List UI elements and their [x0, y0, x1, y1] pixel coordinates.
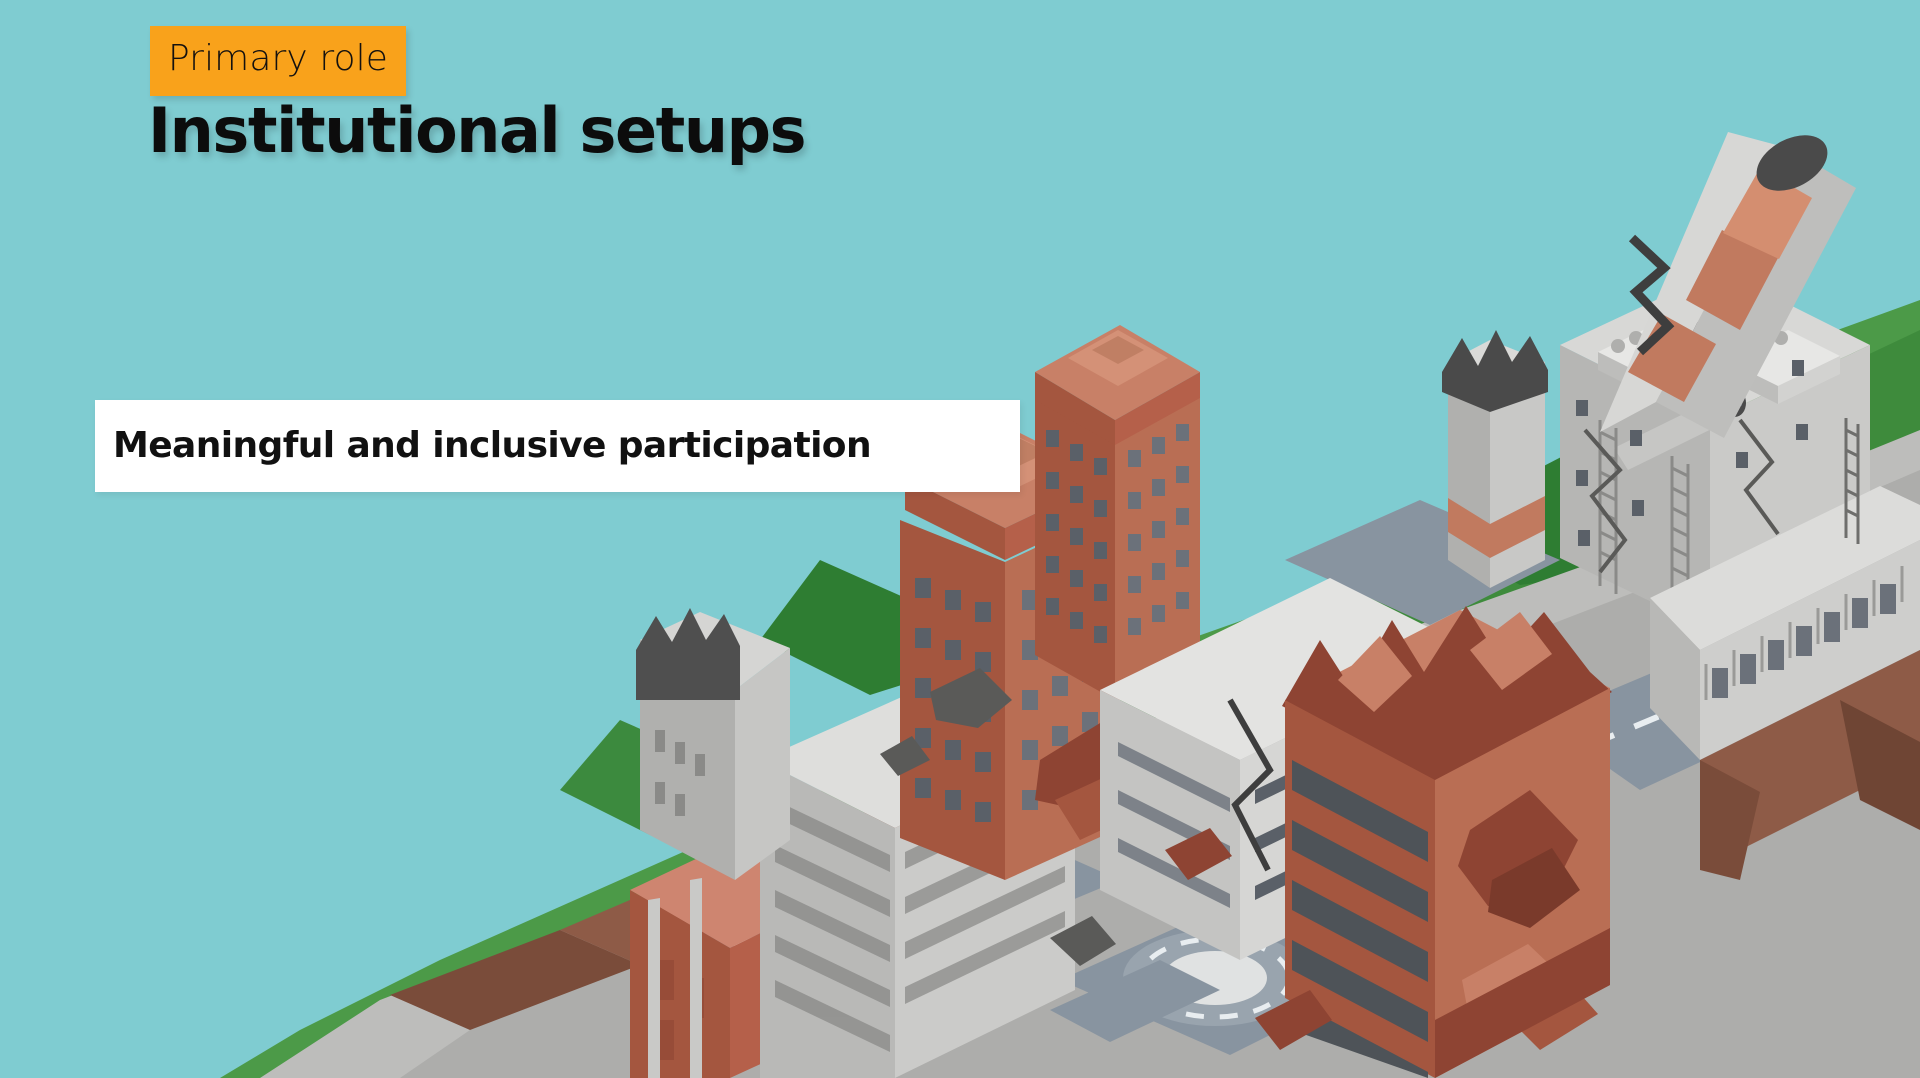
- building-grey-cracked-left: [760, 680, 1075, 1078]
- primary-role-badge: Primary role: [150, 26, 406, 96]
- power-plant: [1560, 270, 1870, 630]
- building-long-warehouse-right: [1650, 486, 1920, 760]
- building-brick-tower-tall: [1035, 325, 1200, 700]
- rubble-group: [880, 668, 1116, 966]
- building-brick-foreground-damaged: [1282, 606, 1612, 1078]
- chimney-stub-broken: [1442, 330, 1548, 588]
- statement-callout-text: Meaningful and inclusive participation: [95, 428, 871, 464]
- statement-callout-box: Meaningful and inclusive participation: [95, 400, 1020, 492]
- building-brick-highrise-center: [900, 428, 1140, 880]
- building-brick-leaning-left: [630, 810, 900, 1078]
- page-title: Institutional setups: [148, 98, 805, 165]
- roads-group: [640, 500, 1920, 1055]
- primary-role-badge-label: Primary role: [168, 41, 388, 77]
- building-grey-damaged-small: [636, 608, 790, 880]
- smokestack-toppled: [1600, 124, 1856, 438]
- ground-slab: [260, 430, 1920, 1078]
- antenna-pylon: [1846, 418, 1858, 544]
- building-white-lowrise: [1100, 578, 1470, 960]
- slide-canvas: Primary role Institutional setups Meanin…: [0, 0, 1920, 1078]
- building-grey-right-edge: [1700, 650, 1920, 880]
